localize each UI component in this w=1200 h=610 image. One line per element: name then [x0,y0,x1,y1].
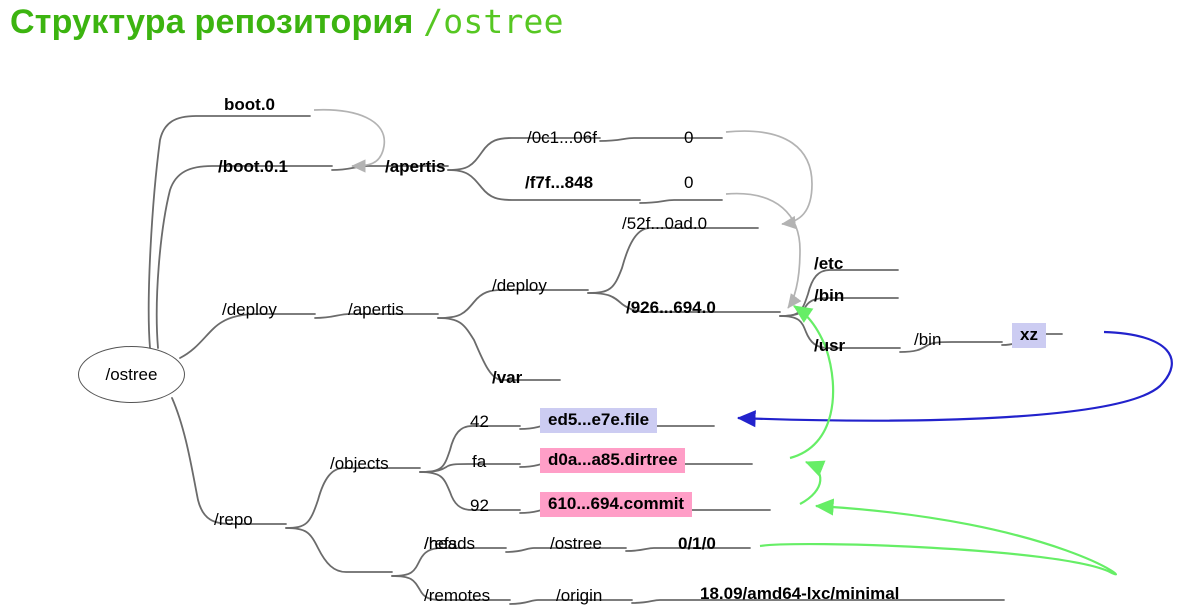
node-heads[interactable]: /heads [424,534,475,554]
node-deploy[interactable]: /deploy [222,300,277,320]
node-xz[interactable]: xz [1012,323,1046,348]
diagram-canvas: Структура репозитория /ostree [0,0,1200,610]
node-checksum-0c1[interactable]: /0c1...06f [527,128,597,148]
node-deploy-deploy[interactable]: /deploy [492,276,547,296]
node-usr[interactable]: /usr [814,336,845,356]
node-object-prefix-fa[interactable]: fa [472,452,486,472]
node-etc[interactable]: /etc [814,254,843,274]
node-object-prefix-42[interactable]: 42 [470,412,489,432]
link-ref-to-commit [760,506,1116,574]
link-dirtree-to-926 [790,306,833,458]
node-remotes-origin[interactable]: /origin [556,586,602,606]
node-bin[interactable]: /bin [814,286,844,306]
node-deploy-52f[interactable]: /52f...0ad.0 [622,214,707,234]
node-boot-0[interactable]: boot.0 [224,95,275,115]
node-boot-apertis[interactable]: /apertis [385,157,445,177]
node-checksum-f7f-child[interactable]: 0 [684,173,693,193]
node-boot-0-1[interactable]: /boot.0.1 [218,157,288,177]
link-0-to-52f [726,131,812,224]
connector-layer [0,0,1200,610]
node-heads-ostree[interactable]: /ostree [550,534,602,554]
link-xz-to-file [738,332,1172,421]
node-deploy-apertis[interactable]: /apertis [348,300,404,320]
node-object-file[interactable]: ed5...e7e.file [540,408,657,433]
node-objects[interactable]: /objects [330,454,389,474]
node-usr-bin[interactable]: /bin [914,330,941,350]
node-object-prefix-92[interactable]: 92 [470,496,489,516]
node-deploy-926[interactable]: /926...694.0 [626,298,716,318]
node-remotes-value[interactable]: 18.09/amd64-lxc/minimal [700,584,899,604]
node-object-dirtree[interactable]: d0a...a85.dirtree [540,448,685,473]
link-0-to-926 [726,194,800,308]
node-var[interactable]: /var [492,368,522,388]
node-remotes[interactable]: /remotes [424,586,490,606]
link-boot0-to-boot01 [314,110,384,166]
node-root-ostree[interactable]: /ostree [78,346,185,403]
node-heads-value[interactable]: 0/1/0 [678,534,716,554]
node-object-commit[interactable]: 610...694.commit [540,492,692,517]
node-repo[interactable]: /repo [214,510,253,530]
link-commit-to-dirtree [800,462,820,504]
node-checksum-0c1-child[interactable]: 0 [684,128,693,148]
node-checksum-f7f[interactable]: /f7f...848 [525,173,593,193]
